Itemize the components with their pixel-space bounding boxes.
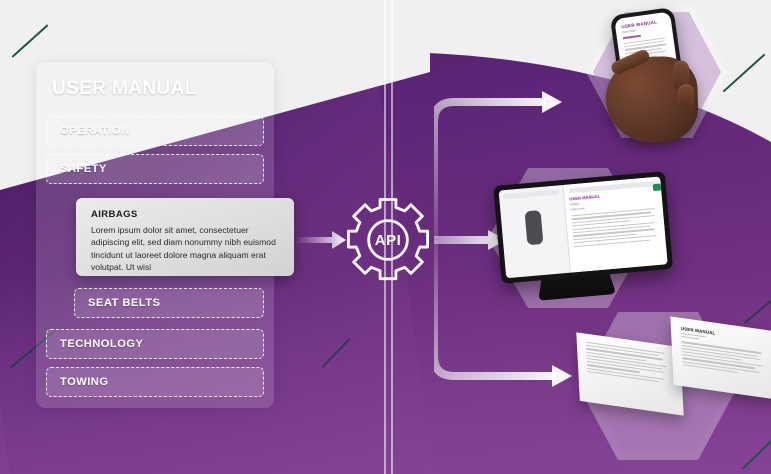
api-label: API [344,196,432,284]
menu-item-seat-belts[interactable]: SEAT BELTS [74,288,264,318]
menu-item-operation[interactable]: OPERATION [46,116,264,146]
book-page-right: USER MANUAL [670,316,771,399]
car-screen-statusbar [503,189,559,199]
menu-item-label: OPERATION [60,125,130,137]
car-display-mockup: USER MANUAL Airbags Learn more [493,170,683,303]
input-arrow-icon [296,230,346,250]
menu-item-label: TOWING [60,376,108,388]
vehicle-icon [524,210,543,245]
airbags-detail-card: AIRBAGS Lorem ipsum dolor sit amet, cons… [76,198,294,276]
car-text-lines [571,208,661,247]
car-screen-vehicle-pane [499,185,571,278]
car-screen-manual-pane: USER MANUAL Airbags Learn more [563,176,667,272]
book-left-lines [586,342,673,384]
car-screen-badge [653,183,662,191]
api-gear[interactable]: API [344,196,432,284]
menu-item-label: SEAT BELTS [88,297,160,309]
menu-item-towing[interactable]: TOWING [46,367,264,397]
car-screen: USER MANUAL Airbags Learn more [499,176,668,278]
menu-item-label: TECHNOLOGY [60,338,143,350]
card-title: AIRBAGS [91,209,280,220]
infographic-canvas: USER MANUAL OPERATION SAFETY SEAT BELTS … [0,0,771,474]
menu-item-safety[interactable]: SAFETY [46,154,264,184]
printed-book-mockup: USER MANUAL [576,318,766,428]
menu-item-technology[interactable]: TECHNOLOGY [46,329,264,359]
page-title: USER MANUAL [52,78,197,100]
book-right-lines [682,341,767,377]
book-page-left [576,332,683,415]
phone-accent-bar [623,35,641,39]
card-body: Lorem ipsum dolor sit amet, consectetuer… [91,224,280,274]
phone-mockup: USER MANUAL Operation [587,0,725,150]
menu-item-label: SAFETY [60,163,107,175]
car-display-bezel: USER MANUAL Airbags Learn more [493,171,673,284]
finger-middle [677,84,694,111]
